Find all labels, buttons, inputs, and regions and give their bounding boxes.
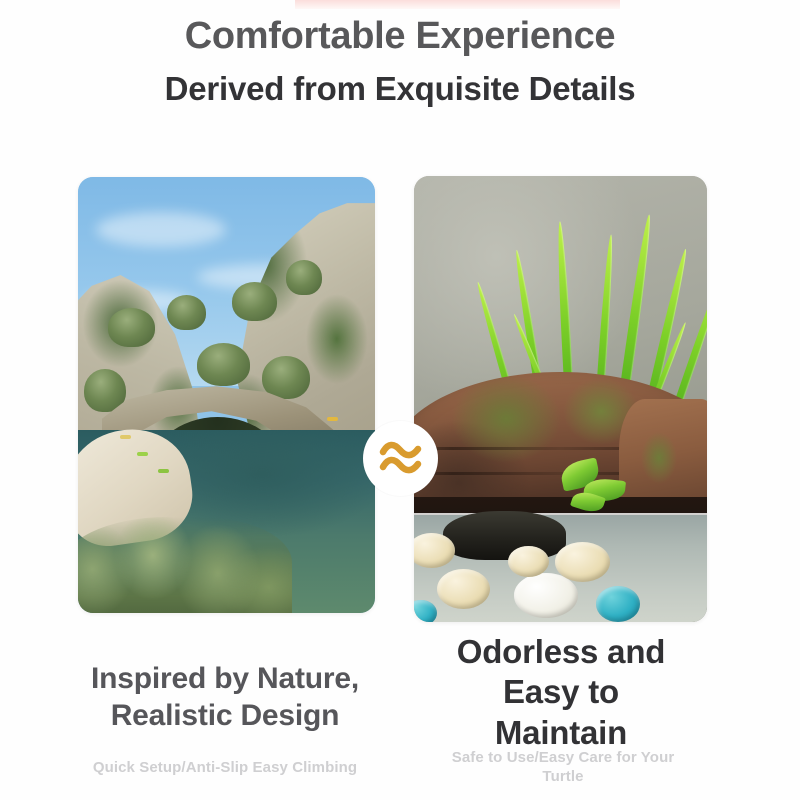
caption-right-title-line2: Easy to	[408, 672, 714, 712]
decorative-pebble	[437, 569, 490, 609]
kayak	[120, 435, 131, 439]
caption-left-subtitle: Quick Setup/Anti-Slip Easy Climbing	[50, 758, 400, 777]
kayak	[158, 469, 169, 473]
approximately-equal-icon	[379, 441, 423, 477]
decorative-pebble	[555, 542, 611, 582]
caption-right-title-line3: Maintain	[408, 713, 714, 753]
water-line	[414, 513, 707, 515]
aquarium-photo	[414, 176, 707, 622]
caption-right-subtitle: Safe to Use/Easy Care for Your Turtle	[418, 748, 708, 786]
comparison-image-right	[414, 176, 707, 622]
caption-right-title-line1: Odorless and	[408, 632, 714, 672]
decorative-pebble	[508, 546, 549, 577]
headings-block: Comfortable Experience Derived from Exqu…	[0, 14, 800, 108]
caption-right-subtitle-line1: Safe to Use/Easy Care for Your	[418, 748, 708, 767]
decorative-pebble	[596, 586, 640, 622]
nature-photo	[78, 177, 375, 613]
vegetation-clump	[167, 295, 206, 330]
comparison-image-left	[78, 177, 375, 613]
vegetation-clump	[286, 260, 322, 295]
top-accent-band	[295, 0, 620, 9]
comparison-badge	[363, 421, 438, 496]
cloud-shape	[96, 212, 227, 247]
caption-left-title-line1: Inspired by Nature,	[50, 660, 400, 697]
decorative-pebble	[514, 573, 578, 618]
kayak	[137, 452, 148, 456]
vegetation-clump	[108, 308, 156, 347]
page-title: Comfortable Experience	[0, 14, 800, 59]
caption-right: Odorless and Easy to Maintain	[408, 632, 714, 753]
caption-right-subtitle-line2: Turtle	[418, 767, 708, 786]
caption-left: Inspired by Nature, Realistic Design	[50, 660, 400, 734]
foreground-foliage	[78, 517, 292, 613]
turtle-shell	[443, 511, 566, 560]
kayak	[327, 417, 338, 421]
caption-left-title-line2: Realistic Design	[50, 697, 400, 734]
vegetation-clump	[232, 282, 277, 321]
vegetation-clump	[197, 343, 250, 387]
page-subtitle: Derived from Exquisite Details	[0, 69, 800, 109]
vegetation-clump	[262, 356, 310, 400]
